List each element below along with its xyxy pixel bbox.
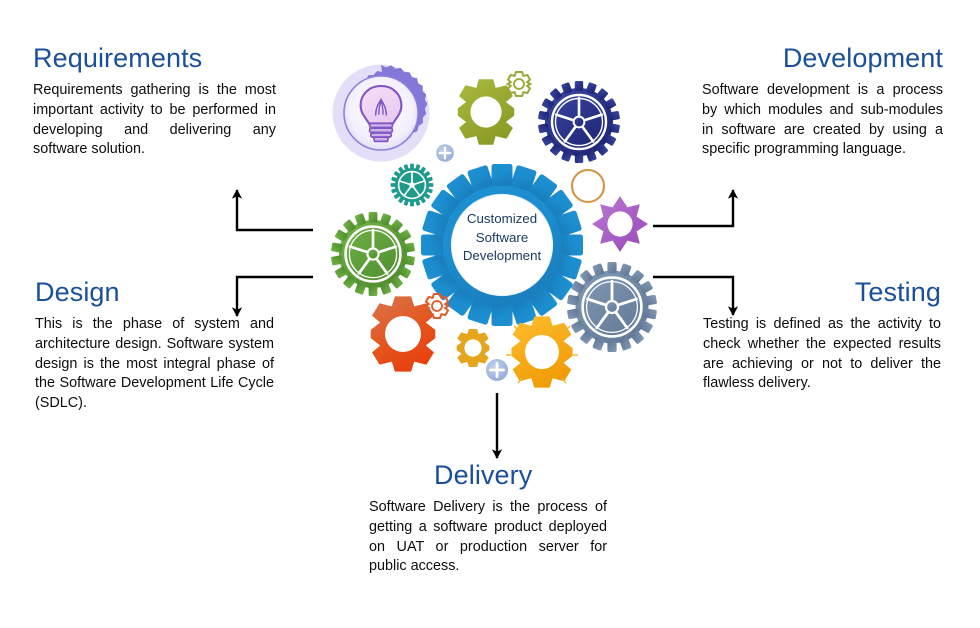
center-gear-label: Customized Software Development xyxy=(446,210,558,266)
gear-slate-spoked xyxy=(567,262,657,352)
gear-olive-mini xyxy=(508,72,531,96)
phase-requirements: Requirements Requirements gathering is t… xyxy=(33,44,276,160)
phase-testing-title: Testing xyxy=(703,278,941,306)
phase-delivery: Delivery Software Delivery is the proces… xyxy=(369,461,607,577)
phase-testing: Testing Testing is defined as the activi… xyxy=(703,278,941,394)
connector-to-requirements xyxy=(237,190,313,230)
center-label-line-1: Customized xyxy=(446,210,558,229)
plus-badge-top xyxy=(436,144,454,162)
phase-delivery-title: Delivery xyxy=(369,461,607,489)
phase-design-body: This is the phase of system and architec… xyxy=(35,315,274,413)
gear-green-spoked xyxy=(331,212,415,296)
gear-purple-star xyxy=(592,196,648,252)
phase-testing-body: Testing is defined as the activity to ch… xyxy=(703,315,941,393)
gear-yellow-mini xyxy=(457,329,490,367)
phase-development-title: Development xyxy=(702,44,943,72)
gear-amber xyxy=(506,316,578,387)
plus-badge-bottom xyxy=(486,359,508,381)
diagram-canvas: Customized Software Development Requirem… xyxy=(0,0,980,628)
lightbulb-badge xyxy=(333,65,430,162)
gear-red-orange xyxy=(371,296,436,371)
gear-teal-mini xyxy=(391,164,434,207)
phase-requirements-title: Requirements xyxy=(33,44,276,72)
phase-design: Design This is the phase of system and a… xyxy=(35,278,274,413)
phase-requirements-body: Requirements gathering is the most impor… xyxy=(33,81,276,159)
gear-olive xyxy=(458,79,514,145)
connector-to-development xyxy=(653,190,733,226)
phase-design-title: Design xyxy=(35,278,274,306)
phase-delivery-body: Software Delivery is the process of gett… xyxy=(369,498,607,576)
phase-development: Development Software development is a pr… xyxy=(702,44,943,160)
gear-red-mini xyxy=(426,294,449,318)
gear-navy-spoked xyxy=(538,81,620,163)
ring-orange xyxy=(572,170,604,202)
center-label-line-2: Software xyxy=(446,229,558,248)
phase-development-body: Software development is a process by whi… xyxy=(702,81,943,159)
center-label-line-3: Development xyxy=(446,247,558,266)
